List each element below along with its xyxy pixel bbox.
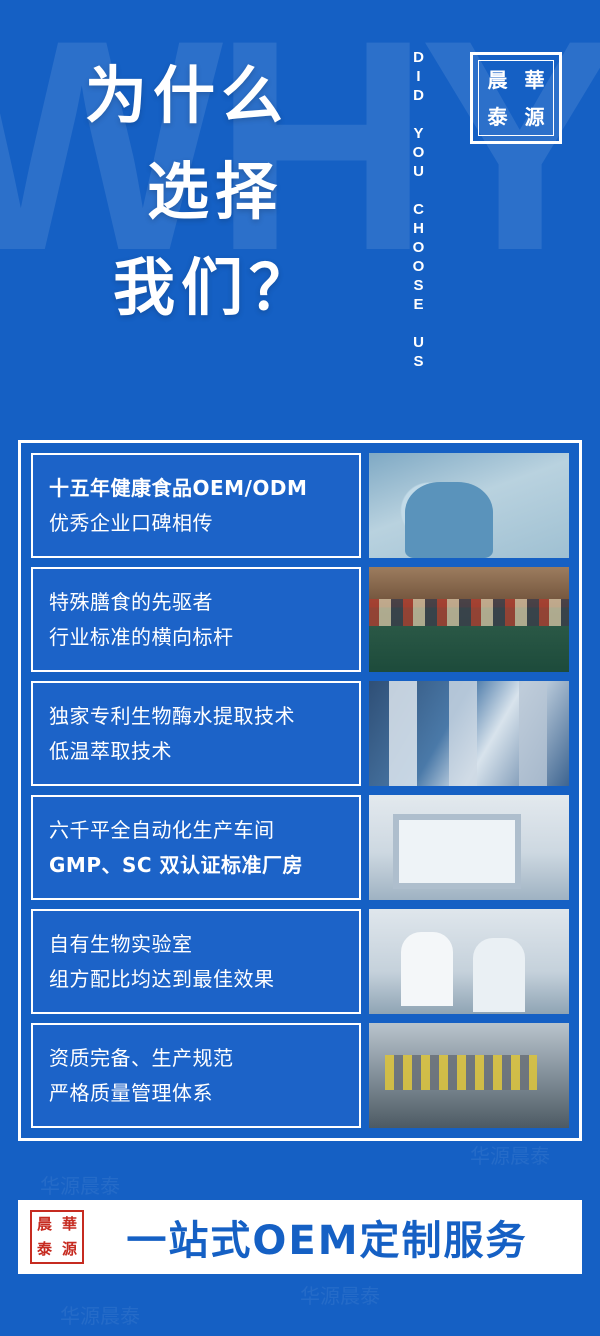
brand-seal-inner: 晨 華 泰 源 bbox=[478, 60, 554, 136]
cleanroom-workshop-photo bbox=[369, 795, 569, 900]
feature-text-block: 自有生物实验室 组方配比均达到最佳效果 bbox=[31, 909, 361, 1014]
vertical-english-subtitle: DID YOU CHOOSE US bbox=[398, 30, 428, 390]
feature-row: 独家专利生物酶水提取技术 低温萃取技术 bbox=[31, 681, 569, 786]
feature-line-1: 自有生物实验室 bbox=[49, 927, 343, 962]
feature-text-block: 独家专利生物酶水提取技术 低温萃取技术 bbox=[31, 681, 361, 786]
feature-line-2: 行业标准的横向标杆 bbox=[49, 620, 343, 655]
feature-line-2: 优秀企业口碑相传 bbox=[49, 506, 343, 541]
footer-seal-char-3: 泰 bbox=[37, 1242, 52, 1257]
feature-line-1: 资质完备、生产规范 bbox=[49, 1041, 343, 1076]
footer-banner: 晨 華 泰 源 一站式OEM定制服务 bbox=[18, 1200, 582, 1274]
feature-line-1: 独家专利生物酶水提取技术 bbox=[49, 699, 343, 734]
page-title: 为什么 选择 我们？ bbox=[85, 48, 317, 336]
background-watermark: 华源晨泰 bbox=[60, 1300, 140, 1329]
conference-audience-photo bbox=[369, 567, 569, 672]
feature-text-block: 资质完备、生产规范 严格质量管理体系 bbox=[31, 1023, 361, 1128]
footer-seal-char-2: 華 bbox=[62, 1217, 77, 1232]
poster-header: 为什么 选择 我们？ DID YOU CHOOSE US 晨 華 泰 源 bbox=[0, 0, 600, 440]
headline-line-1: 为什么 bbox=[85, 48, 317, 144]
feature-line-1: 特殊膳食的先驱者 bbox=[49, 585, 343, 620]
capsule-packaging-photo bbox=[369, 1023, 569, 1128]
brand-seal-logo: 晨 華 泰 源 bbox=[470, 52, 562, 144]
lab-technician-photo bbox=[369, 453, 569, 558]
feature-row: 资质完备、生产规范 严格质量管理体系 bbox=[31, 1023, 569, 1128]
seal-char-3: 泰 bbox=[488, 107, 508, 127]
seal-char-1: 晨 bbox=[488, 70, 508, 90]
footer-slogan: 一站式OEM定制服务 bbox=[84, 1208, 570, 1266]
background-watermark: 华源晨泰 bbox=[300, 1280, 380, 1309]
feature-line-1: 六千平全自动化生产车间 bbox=[49, 813, 343, 848]
feature-line-1: 十五年健康食品OEM/ODM bbox=[49, 471, 343, 506]
feature-line-2: GMP、SC 双认证标准厂房 bbox=[49, 848, 343, 883]
filling-line-photo bbox=[369, 681, 569, 786]
feature-line-2: 组方配比均达到最佳效果 bbox=[49, 962, 343, 997]
feature-list-panel: 十五年健康食品OEM/ODM 优秀企业口碑相传 特殊膳食的先驱者 行业标准的横向… bbox=[18, 440, 582, 1141]
background-watermark: 华源晨泰 bbox=[40, 1170, 120, 1199]
feature-text-block: 特殊膳食的先驱者 行业标准的横向标杆 bbox=[31, 567, 361, 672]
footer-seal-char-1: 晨 bbox=[37, 1217, 52, 1232]
footer-seal-logo: 晨 華 泰 源 bbox=[30, 1210, 84, 1264]
seal-char-4: 源 bbox=[525, 107, 545, 127]
feature-line-2: 低温萃取技术 bbox=[49, 734, 343, 769]
headline-line-2: 选择 bbox=[85, 144, 317, 240]
feature-text-block: 六千平全自动化生产车间 GMP、SC 双认证标准厂房 bbox=[31, 795, 361, 900]
feature-row: 六千平全自动化生产车间 GMP、SC 双认证标准厂房 bbox=[31, 795, 569, 900]
feature-row: 十五年健康食品OEM/ODM 优秀企业口碑相传 bbox=[31, 453, 569, 558]
background-watermark: 华源晨泰 bbox=[470, 1140, 550, 1169]
headline-line-3: 我们？ bbox=[85, 240, 317, 336]
feature-text-block: 十五年健康食品OEM/ODM 优秀企业口碑相传 bbox=[31, 453, 361, 558]
feature-row: 特殊膳食的先驱者 行业标准的横向标杆 bbox=[31, 567, 569, 672]
feature-line-2: 严格质量管理体系 bbox=[49, 1076, 343, 1111]
footer-seal-char-4: 源 bbox=[62, 1242, 77, 1257]
feature-row: 自有生物实验室 组方配比均达到最佳效果 bbox=[31, 909, 569, 1014]
biolab-staff-photo bbox=[369, 909, 569, 1014]
seal-char-2: 華 bbox=[525, 70, 545, 90]
